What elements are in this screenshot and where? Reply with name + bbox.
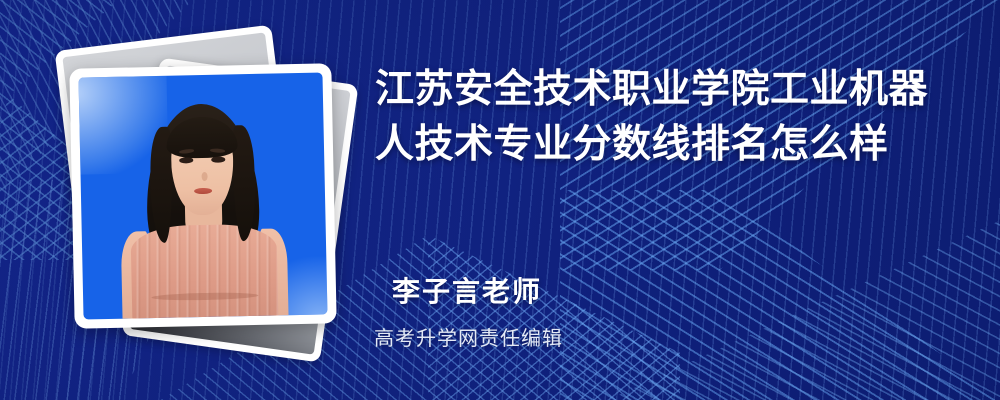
article-header-banner: 江苏安全技术职业学院工业机器人技术专业分数线排名怎么样 李子言老师 高考升学网责… [0, 0, 1000, 400]
bottom-right-diagonal-pattern [520, 150, 1000, 400]
portrait-illustration [78, 72, 327, 319]
portrait-dress [130, 223, 278, 319]
headline-block: 江苏安全技术职业学院工业机器人技术专业分数线排名怎么样 [375, 62, 955, 173]
editor-photo-card [69, 63, 336, 328]
portrait-eye-right [211, 157, 225, 163]
portrait-eyebrow-right [210, 148, 225, 153]
photo-card-stack [40, 40, 370, 370]
author-role: 高考升学网责任编辑 [374, 322, 563, 351]
portrait-dress-folds [130, 223, 278, 319]
portrait-eye-left [179, 157, 193, 163]
author-credit-block: 李子言老师 高考升学网责任编辑 [392, 270, 563, 351]
author-name: 李子言老师 [392, 270, 563, 310]
right-chevron-fan-lower [560, 190, 1000, 400]
editor-photo [78, 72, 327, 319]
page-title: 江苏安全技术职业学院工业机器人技术专业分数线排名怎么样 [375, 62, 955, 173]
